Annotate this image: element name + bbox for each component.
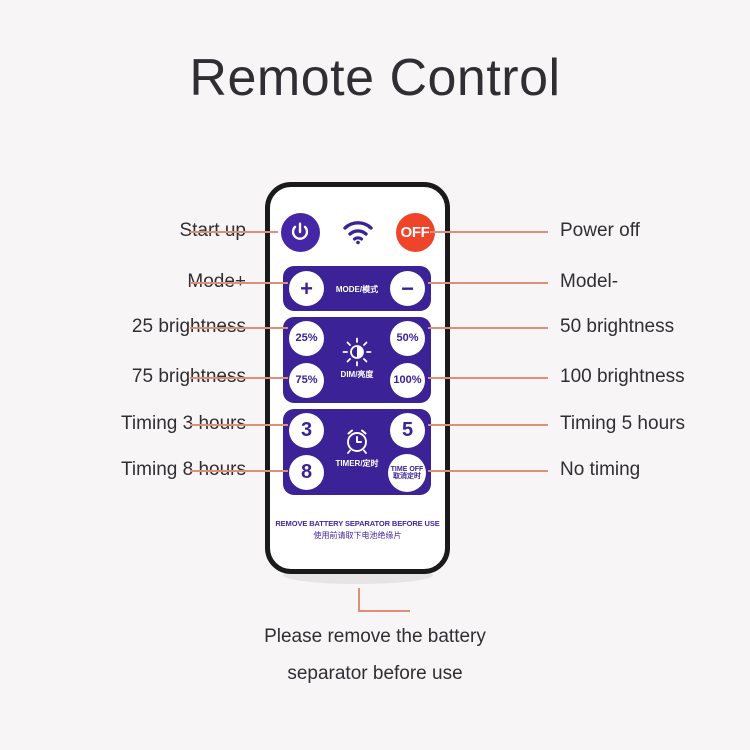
time-off-label-cn: 取消定时: [393, 473, 421, 480]
leader-line-50-brightness: [428, 327, 548, 329]
leader-line-no-timing: [428, 470, 548, 472]
bottom-caption: Please remove the battery separator befo…: [0, 618, 750, 692]
page-title: Remote Control: [0, 48, 750, 108]
timer-3-hours-button[interactable]: 3: [289, 413, 324, 448]
callout-no-timing: No timing: [560, 459, 640, 481]
brightness-50-button[interactable]: 50%: [390, 321, 425, 356]
bottom-callout-bracket: [358, 588, 410, 612]
leader-line-start-up: [190, 231, 278, 233]
leader-line-75-brightness: [190, 377, 288, 379]
timer-5-hours-button[interactable]: 5: [390, 413, 425, 448]
remote-top-row: OFF: [270, 209, 445, 255]
brightness-sun-icon: [342, 337, 372, 367]
leader-line-100-brightness: [428, 377, 548, 379]
mode-panel: + MODE/模式 −: [283, 266, 431, 311]
brightness-panel: 25% 50% 75% 100% DIM/亮度: [283, 317, 431, 403]
leader-line-timing-5-hours: [428, 424, 548, 426]
remote-footer-print-en: REMOVE BATTERY SEPARATOR BEFORE USE: [270, 519, 445, 528]
bottom-caption-line1: Please remove the battery: [0, 618, 750, 655]
alarm-clock-icon: [343, 426, 371, 454]
remote-control-device: OFF + MODE/模式 − 25% 50% 75% 100%: [265, 182, 450, 574]
bottom-caption-line2: separator before use: [0, 655, 750, 692]
callout-power-off: Power off: [560, 220, 640, 242]
callout-timing-5-hours: Timing 5 hours: [560, 413, 685, 435]
leader-line-timing-8-hours: [190, 470, 288, 472]
wifi-signal-icon: [341, 217, 375, 247]
timer-panel: 3 5 8 TIME OFF 取消定时 TIMER/定时: [283, 409, 431, 495]
leader-line-timing-3-hours: [190, 424, 288, 426]
off-button[interactable]: OFF: [396, 213, 435, 252]
leader-line-model-minus: [428, 282, 548, 284]
brightness-panel-label: DIM/亮度: [283, 369, 431, 380]
remote-footer-print: REMOVE BATTERY SEPARATOR BEFORE USE 使用前请…: [270, 519, 445, 541]
power-button[interactable]: [281, 213, 320, 252]
leader-line-power-off: [430, 231, 548, 233]
power-icon: [289, 221, 311, 243]
brightness-25-button[interactable]: 25%: [289, 321, 324, 356]
callout-50-brightness: 50 brightness: [560, 316, 674, 338]
leader-line-25-brightness: [190, 327, 288, 329]
remote-control-infographic: Remote Control OFF: [0, 0, 750, 750]
callout-100-brightness: 100 brightness: [560, 366, 685, 388]
leader-line-mode-plus: [190, 282, 288, 284]
mode-minus-button[interactable]: −: [390, 271, 425, 306]
timer-panel-label: TIMER/定时: [283, 458, 431, 469]
remote-footer-print-cn: 使用前请取下电池绝缘片: [270, 530, 445, 541]
callout-model-minus: Model-: [560, 271, 618, 293]
